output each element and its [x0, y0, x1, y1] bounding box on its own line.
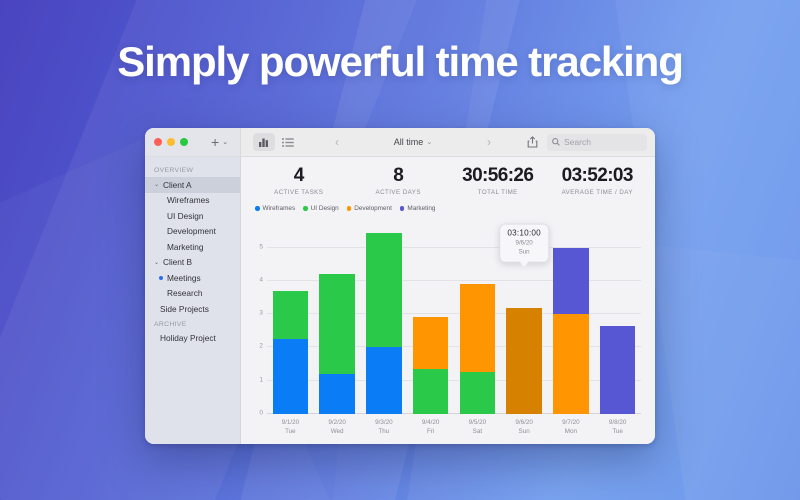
time-range-label: All time: [394, 137, 424, 147]
bar-segment-wireframes[interactable]: [273, 339, 309, 414]
legend-swatch: [347, 206, 352, 211]
x-axis-weekday: Sun: [501, 427, 548, 436]
chart-bar-column[interactable]: 9/5/20Sat: [454, 221, 501, 414]
stat-label: Active tasks: [249, 189, 349, 196]
y-axis-tick: 2: [259, 343, 263, 350]
legend-label: Development: [354, 205, 392, 212]
bar-segment-ui-design[interactable]: [413, 369, 449, 414]
legend-swatch: [255, 206, 260, 211]
chevron-down-icon[interactable]: ⌄: [154, 259, 160, 266]
sidebar-item-label: Client A: [163, 180, 192, 190]
sidebar-item-side-projects[interactable]: Side Projects: [145, 301, 240, 317]
chart-bar-column[interactable]: 9/3/20Thu: [361, 221, 408, 414]
x-axis-label: 9/6/20Sun: [501, 414, 548, 436]
x-axis-weekday: Tue: [267, 427, 314, 436]
legend-swatch: [303, 206, 308, 211]
sidebar-section-header: Overview: [145, 163, 240, 177]
y-axis-tick: 1: [259, 376, 263, 383]
share-icon[interactable]: [527, 136, 538, 148]
chart-bar-column[interactable]: 9/1/20Tue: [267, 221, 314, 414]
chart-bar-stack[interactable]: [413, 221, 449, 414]
toolbar-right-group: ‹ All time ⌄ ›: [241, 128, 655, 156]
x-axis-label: 9/4/20Fri: [407, 414, 454, 436]
chart-tooltip: 03:10:00 9/6/20 Sun: [499, 224, 548, 263]
stat-value: 30:56:26: [448, 166, 548, 186]
close-button[interactable]: [154, 138, 162, 146]
stat-value: 8: [349, 166, 449, 186]
app-window: + ⌄: [145, 128, 655, 444]
bar-segment-ui-design[interactable]: [460, 372, 496, 414]
sidebar-item-label: Marketing: [167, 242, 203, 252]
sidebar-item-client-b[interactable]: ⌄Client B: [145, 255, 240, 271]
bar-segment-wireframes[interactable]: [366, 347, 402, 414]
stats-row: 4Active tasks8Active days30:56:26Total t…: [241, 157, 655, 200]
bar-chart: 012345 9/1/20Tue9/2/20Wed9/3/20Thu9/4/20…: [245, 215, 645, 444]
sidebar-item-holiday-project[interactable]: Holiday Project: [145, 331, 240, 347]
bar-segment-ui-design[interactable]: [273, 291, 309, 339]
chevron-down-icon: ⌄: [222, 138, 228, 146]
x-axis-weekday: Wed: [314, 427, 361, 436]
view-mode-switcher[interactable]: [253, 133, 299, 151]
sidebar-item-label: Research: [167, 288, 203, 298]
x-axis-date: 9/3/20: [375, 419, 393, 426]
stat-label: Active days: [349, 189, 449, 196]
next-period-button[interactable]: ›: [476, 135, 502, 149]
x-axis-weekday: Tue: [594, 427, 641, 436]
time-range-dropdown[interactable]: All time ⌄: [350, 137, 476, 147]
x-axis-date: 9/4/20: [422, 419, 440, 426]
bar-segment-marketing[interactable]: [553, 248, 589, 315]
chart-legend: WireframesUI DesignDevelopmentMarketing: [241, 200, 655, 215]
bar-segment-wireframes[interactable]: [319, 374, 355, 414]
chart-bar-stack[interactable]: [553, 221, 589, 414]
y-axis-tick: 0: [259, 410, 263, 417]
legend-label: Wireframes: [263, 205, 296, 212]
chart-bar-stack[interactable]: [460, 221, 496, 414]
time-range-navigator: ‹ All time ⌄ ›: [299, 135, 527, 149]
sidebar-item-development[interactable]: Development: [145, 224, 240, 240]
minimize-button[interactable]: [167, 138, 175, 146]
chart-bar-stack[interactable]: [600, 221, 636, 414]
legend-item[interactable]: Marketing: [400, 205, 436, 212]
search-icon: [552, 138, 560, 146]
bar-segment-development[interactable]: [413, 317, 449, 369]
x-axis-label: 9/2/20Wed: [314, 414, 361, 436]
toolbar-left-group: + ⌄: [145, 128, 241, 156]
x-axis-date: 9/5/20: [469, 419, 487, 426]
chevron-down-icon[interactable]: ⌄: [154, 181, 160, 188]
sidebar-item-label: Side Projects: [160, 304, 209, 314]
stat-card: 4Active tasks: [249, 166, 349, 196]
chart-bar-column[interactable]: 9/4/20Fri: [407, 221, 454, 414]
chart-bar-stack[interactable]: [366, 221, 402, 414]
sidebar-item-client-a[interactable]: ⌄Client A: [145, 177, 240, 193]
stat-label: Average time / day: [548, 189, 648, 196]
add-button[interactable]: + ⌄: [211, 135, 228, 149]
sidebar-item-ui-design[interactable]: UI Design: [145, 208, 240, 224]
stat-value: 03:52:03: [548, 166, 648, 186]
list-icon[interactable]: [277, 133, 299, 151]
stat-label: Total time: [448, 189, 548, 196]
x-axis-date: 9/2/20: [328, 419, 346, 426]
sidebar-item-marketing[interactable]: Marketing: [145, 239, 240, 255]
search-input[interactable]: Search: [547, 134, 647, 151]
legend-item[interactable]: Wireframes: [255, 205, 295, 212]
bar-segment-development[interactable]: [460, 284, 496, 372]
bar-chart-icon[interactable]: [253, 133, 275, 151]
x-axis-weekday: Fri: [407, 427, 454, 436]
x-axis-weekday: Sat: [454, 427, 501, 436]
legend-label: UI Design: [311, 205, 339, 212]
x-axis-label: 9/1/20Tue: [267, 414, 314, 436]
previous-period-button[interactable]: ‹: [324, 135, 350, 149]
legend-label: Marketing: [407, 205, 435, 212]
sidebar-item-label: Client B: [163, 257, 192, 267]
sidebar-item-label: UI Design: [167, 211, 203, 221]
maximize-button[interactable]: [180, 138, 188, 146]
x-axis-label: 9/7/20Mon: [548, 414, 595, 436]
page-headline: Simply powerful time tracking: [0, 38, 800, 86]
bar-segment-ui-design[interactable]: [366, 233, 402, 348]
chevron-down-icon: ⌄: [426, 138, 432, 146]
x-axis-date: 9/1/20: [282, 419, 300, 426]
stat-card: 8Active days: [349, 166, 449, 196]
bar-segment-development[interactable]: [553, 314, 589, 414]
x-axis-weekday: Mon: [548, 427, 595, 436]
window-body: Overview⌄Client AWireframesUI DesignDeve…: [145, 157, 655, 444]
search-placeholder: Search: [564, 137, 591, 147]
sidebar-item-label: Wireframes: [167, 195, 209, 205]
chart-bar-column[interactable]: 9/7/20Mon: [548, 221, 595, 414]
tooltip-date: 9/6/20: [516, 240, 533, 247]
stat-card: 30:56:26Total time: [448, 166, 548, 196]
y-axis-tick: 3: [259, 310, 263, 317]
x-axis-weekday: Thu: [361, 427, 408, 436]
sidebar-item-meetings[interactable]: Meetings: [145, 270, 240, 286]
x-axis-date: 9/6/20: [515, 419, 533, 426]
window-toolbar: + ⌄: [145, 128, 655, 157]
chart-container: 012345 9/1/20Tue9/2/20Wed9/3/20Thu9/4/20…: [241, 215, 655, 444]
x-axis-date: 9/8/20: [609, 419, 627, 426]
bar-segment-marketing[interactable]: [600, 326, 636, 414]
chart-bar-column[interactable]: 9/2/20Wed: [314, 221, 361, 414]
tooltip-duration: 03:10:00: [507, 229, 540, 238]
main-content: 4Active tasks8Active days30:56:26Total t…: [241, 157, 655, 444]
x-axis-label: 9/8/20Tue: [594, 414, 641, 436]
chart-bars: 9/1/20Tue9/2/20Wed9/3/20Thu9/4/20Fri9/5/…: [267, 221, 641, 414]
sidebar-item-research[interactable]: Research: [145, 286, 240, 302]
x-axis-date: 9/7/20: [562, 419, 580, 426]
tooltip-weekday: Sun: [519, 248, 530, 255]
chart-bar-stack[interactable]: [319, 221, 355, 414]
stat-card: 03:52:03Average time / day: [548, 166, 648, 196]
plus-icon: +: [211, 135, 219, 149]
legend-item[interactable]: Development: [347, 205, 392, 212]
y-axis-tick: 4: [259, 276, 263, 283]
bar-segment-ui-design[interactable]: [319, 274, 355, 374]
y-axis-tick: 5: [259, 243, 263, 250]
sidebar-item-label: Development: [167, 226, 216, 236]
chart-bar-column[interactable]: 9/8/20Tue: [594, 221, 641, 414]
sidebar: Overview⌄Client AWireframesUI DesignDeve…: [145, 157, 241, 444]
legend-swatch: [400, 206, 405, 211]
sidebar-item-label: Meetings: [167, 273, 201, 283]
sidebar-item-wireframes[interactable]: Wireframes: [145, 193, 240, 209]
status-dot: [159, 276, 163, 280]
legend-item[interactable]: UI Design: [303, 205, 339, 212]
stat-value: 4: [249, 166, 349, 186]
x-axis-label: 9/5/20Sat: [454, 414, 501, 436]
chart-bar-stack[interactable]: [273, 221, 309, 414]
bar-segment-development[interactable]: [506, 308, 542, 414]
chart-plot-area: 012345 9/1/20Tue9/2/20Wed9/3/20Thu9/4/20…: [267, 221, 641, 414]
sidebar-section-header: Archive: [145, 317, 240, 331]
sidebar-item-label: Holiday Project: [160, 333, 216, 343]
x-axis-label: 9/3/20Thu: [361, 414, 408, 436]
